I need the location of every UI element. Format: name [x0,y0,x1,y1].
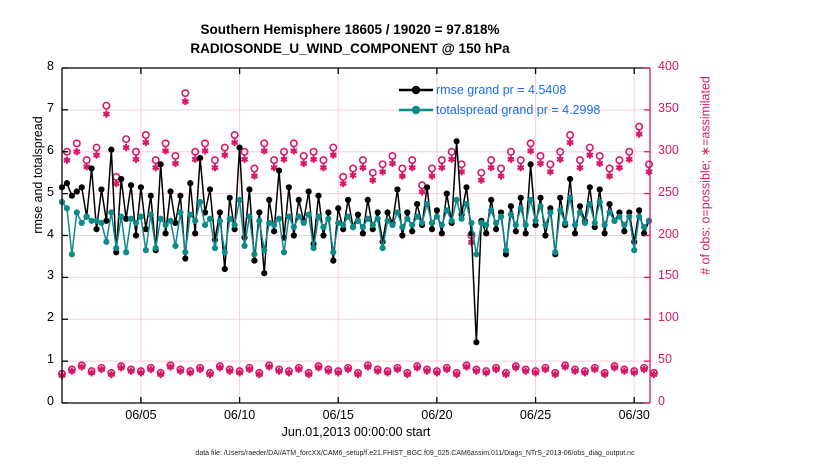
data-point [320,232,326,238]
data-point [365,197,371,203]
data-point [380,245,386,251]
data-point [192,230,198,236]
data-point [128,182,134,188]
data-point [463,184,469,190]
legend-item-rmse[interactable]: rmse grand pr = 4.5408 [398,80,600,100]
data-point [399,224,405,230]
data-point [537,195,543,201]
data-point [597,199,603,205]
data-point [212,245,218,251]
data-point [355,211,361,217]
obs-possible-marker [330,144,336,150]
data-point [177,193,183,199]
data-point [547,209,553,215]
x-tick-label: 06/30 [604,408,664,422]
data-point [523,222,529,228]
obs-possible-marker [261,140,267,146]
data-point [537,203,543,209]
data-point [389,222,395,228]
data-point [454,138,460,144]
y-tick-label-left: 1 [14,352,54,366]
data-point [118,214,124,220]
data-point [236,197,242,203]
data-point [458,216,464,222]
data-point [350,224,356,230]
obs-possible-marker [172,153,178,159]
data-point [133,232,139,238]
obs-assimilated-marker [399,172,405,179]
footer-datafile: data file: /Users/raeder/DAI/ATM_forcXX/… [0,450,830,457]
obs-assimilated-marker [439,164,445,171]
data-point [493,226,499,232]
data-point [261,270,267,276]
data-point [602,230,608,236]
obs-possible-marker [370,169,376,175]
obs-assimilated-marker [301,160,307,167]
obs-possible-marker [458,161,464,167]
data-point [182,249,188,255]
data-point [360,224,366,230]
x-tick-label: 06/10 [210,408,270,422]
obs-possible-marker [478,169,484,175]
data-point [424,201,430,207]
data-point [434,214,440,220]
data-point [246,186,252,192]
data-point [508,203,514,209]
data-point [291,232,297,238]
y-tick-label-right: 200 [658,227,708,241]
data-point [84,214,90,220]
data-point [276,216,282,222]
obs-possible-marker [271,157,277,163]
data-point [246,214,252,220]
data-point [345,197,351,203]
data-point [399,232,405,238]
obs-assimilated-marker [93,152,99,159]
obs-assimilated-marker [340,180,346,187]
data-point [251,258,257,264]
obs-assimilated-marker [232,139,238,146]
data-point [325,209,331,215]
y-axis-label-left: rmse and totalspread [31,45,45,305]
x-axis-label: Jun.01,2013 00:00:00 start [62,425,650,439]
obs-assimilated-marker [291,147,297,154]
obs-assimilated-marker [419,188,425,195]
data-point [148,193,154,199]
obs-possible-marker [251,165,257,171]
data-point [236,144,242,150]
data-point [409,228,415,234]
data-point [222,266,228,272]
data-point [128,216,134,222]
data-point [463,201,469,207]
data-point [468,220,474,226]
obs-possible-marker [212,157,218,163]
data-point [108,147,114,153]
y-tick-label-left: 2 [14,310,54,324]
data-point [197,155,203,161]
data-point [518,195,524,201]
obs-possible-marker [320,157,326,163]
data-point [320,224,326,230]
data-point [256,209,262,215]
data-point [315,193,321,199]
data-point [597,186,603,192]
data-point [449,218,455,224]
data-point [98,186,104,192]
obs-possible-marker [103,102,109,108]
data-point [167,188,173,194]
data-point [330,249,336,255]
obs-assimilated-marker [616,164,622,171]
data-point [217,209,223,215]
figure-canvas: Southern Hemisphere 18605 / 19020 = 97.8… [0,0,830,470]
data-point [143,247,149,253]
obs-possible-marker [596,153,602,159]
data-point [542,232,548,238]
data-point [592,220,598,226]
data-point [384,209,390,215]
obs-assimilated-marker [103,110,109,117]
data-point [582,220,588,226]
data-point [276,167,282,173]
data-point [158,161,164,167]
data-point [621,222,627,228]
obs-assimilated-marker [597,160,603,167]
obs-possible-marker [153,157,159,163]
obs-possible-marker [83,157,89,163]
obs-assimilated-marker [508,156,514,163]
y-tick-label-right: 250 [658,185,708,199]
data-point [315,214,321,220]
obs-assimilated-marker [380,168,386,175]
obs-possible-marker [202,140,208,146]
data-point [197,199,203,205]
data-point [360,230,366,236]
data-point [291,224,297,230]
data-point [187,180,193,186]
data-point [394,209,400,215]
obs-assimilated-marker [212,164,218,171]
obs-assimilated-marker [528,147,534,154]
data-point [577,203,583,209]
obs-assimilated-marker [182,98,188,105]
legend-item-totalspread[interactable]: totalspread grand pr = 4.2998 [398,100,600,120]
obs-assimilated-marker [577,164,583,171]
obs-possible-marker [143,132,149,138]
data-point [330,258,336,264]
data-point [528,161,534,167]
data-point [281,249,287,255]
data-point [108,209,114,215]
data-point [232,222,238,228]
legend-marker-rmse [398,83,434,97]
data-point [626,214,632,220]
data-point [523,230,529,236]
data-point [414,214,420,220]
data-point [636,207,642,213]
data-point [473,339,479,345]
x-tick-label: 06/05 [111,408,171,422]
legend-label-rmse: rmse grand pr = 4.5408 [436,80,566,100]
data-point [370,222,376,228]
data-point [64,180,70,186]
data-point [513,222,519,228]
data-point [646,218,652,224]
data-point [79,184,85,190]
obs-possible-marker [537,153,543,159]
y-tick-label-left: 3 [14,268,54,282]
data-point [444,207,450,213]
obs-possible-marker [547,161,553,167]
data-point [306,211,312,217]
obs-possible-marker [291,140,297,146]
y-tick-label-left: 6 [14,143,54,157]
data-point [222,249,228,255]
obs-possible-marker [616,157,622,163]
data-point [493,220,499,226]
data-point [296,214,302,220]
data-point [162,230,168,236]
obs-assimilated-marker [389,160,395,167]
data-point [572,230,578,236]
data-point [542,222,548,228]
data-point [404,216,410,222]
obs-assimilated-marker [222,152,228,159]
data-point [606,201,612,207]
data-point [103,239,109,245]
data-point [483,222,489,228]
data-point [167,218,173,224]
obs-assimilated-marker [498,172,504,179]
data-point [340,222,346,228]
data-point [409,222,415,228]
obs-assimilated-marker [123,144,129,151]
data-point [424,184,430,190]
data-point [513,228,519,234]
obs-assimilated-marker [370,177,376,184]
data-point [355,218,361,224]
obs-possible-marker [350,165,356,171]
legend-label-totalspread: totalspread grand pr = 4.2998 [436,100,600,120]
data-point [552,249,558,255]
data-point [429,226,435,232]
data-point [335,205,341,211]
x-tick-label: 06/25 [506,408,566,422]
obs-assimilated-marker [557,156,563,163]
data-point [498,214,504,220]
data-point [74,188,80,194]
data-point [419,220,425,226]
obs-possible-marker [379,161,385,167]
data-point [271,222,277,228]
data-point [138,184,144,190]
obs-assimilated-marker [241,156,247,163]
data-point [488,197,494,203]
y-tick-label-left: 4 [14,227,54,241]
data-point [414,201,420,207]
data-point [375,209,381,215]
data-point [153,245,159,251]
obs-assimilated-marker [449,156,455,163]
data-point [74,209,80,215]
obs-possible-marker [577,157,583,163]
obs-possible-marker [301,153,307,159]
obs-possible-marker [429,165,435,171]
obs-assimilated-marker [320,164,326,171]
data-point [567,176,573,182]
data-point [148,211,154,217]
y-tick-label-left: 0 [14,394,54,408]
y-tick-label-right: 150 [658,268,708,282]
data-point [557,195,563,201]
obs-assimilated-marker [360,164,366,171]
obs-possible-marker [93,144,99,150]
data-point [207,216,213,222]
data-point [532,218,538,224]
data-point [611,218,617,224]
data-point [429,220,435,226]
data-point [69,251,75,257]
obs-assimilated-marker [567,139,573,146]
y-tick-label-right: 50 [658,352,708,366]
obs-possible-marker [518,157,524,163]
data-point [182,255,188,261]
data-point [251,251,257,257]
obs-possible-marker [567,132,573,138]
obs-assimilated-marker [143,139,149,146]
y-tick-label-right: 400 [658,59,708,73]
data-point [118,176,124,182]
data-point [616,214,622,220]
data-point [187,211,193,217]
data-point [325,216,331,222]
obs-assimilated-marker [172,160,178,167]
legend-marker-totalspread [398,103,434,117]
data-point [202,222,208,228]
data-point [133,220,139,226]
obs-assimilated-marker [636,131,642,138]
obs-assimilated-marker [429,172,435,179]
obs-assimilated-marker [646,168,652,175]
data-point [404,209,410,215]
data-point [473,251,479,257]
data-point [217,218,223,224]
data-point [306,188,312,194]
data-point [88,165,94,171]
data-point [557,207,563,213]
y-tick-label-right: 350 [658,101,708,115]
data-point [562,220,568,226]
obs-possible-marker [498,165,504,171]
obs-possible-marker [399,165,405,171]
obs-assimilated-marker [547,168,553,175]
data-point [587,201,593,207]
data-point [508,211,514,217]
data-point [528,197,534,203]
chart-legend: rmse grand pr = 4.5408 totalspread grand… [398,80,600,120]
data-point [394,186,400,192]
data-point [567,195,573,201]
obs-assimilated-marker [202,147,208,154]
obs-assimilated-marker [587,152,593,159]
obs-assimilated-marker [488,164,494,171]
obs-assimilated-marker [251,172,257,179]
data-point [587,184,593,190]
data-point [375,216,381,222]
data-point [123,249,129,255]
data-point [286,214,292,220]
data-point [444,191,450,197]
obs-possible-marker [636,123,642,129]
obs-possible-marker [587,144,593,150]
obs-assimilated-marker [518,164,524,171]
obs-assimilated-marker [133,156,139,163]
obs-possible-marker [231,132,237,138]
data-point [296,197,302,203]
data-point [138,214,144,220]
data-point [261,247,267,253]
obs-assimilated-marker [310,156,316,163]
data-point [79,220,85,226]
data-point [641,224,647,230]
obs-assimilated-marker [537,160,543,167]
data-point [488,207,494,213]
obs-possible-marker [162,140,168,146]
data-point [256,218,262,224]
data-point [301,220,307,226]
data-point [606,209,612,215]
data-point [483,230,489,236]
obs-assimilated-marker [350,172,356,179]
y-tick-label-left: 5 [14,185,54,199]
obs-possible-marker [488,157,494,163]
obs-assimilated-marker [478,177,484,184]
data-point [310,245,316,251]
obs-assimilated-marker [330,152,336,159]
obs-possible-marker [409,157,415,163]
data-point [266,197,272,203]
data-point [572,222,578,228]
obs-assimilated-marker [113,180,119,187]
data-point [172,243,178,249]
y-tick-label-right: 300 [658,143,708,157]
y-tick-label-right: 100 [658,310,708,324]
data-point [93,226,99,232]
data-point [207,186,213,192]
data-point [227,195,233,201]
obs-assimilated-marker [281,156,287,163]
data-point [162,222,168,228]
x-tick-label: 06/20 [407,408,467,422]
data-point [227,216,233,222]
data-point [98,220,104,226]
data-point [384,218,390,224]
y-tick-label-right: 0 [658,394,708,408]
obs-possible-marker [340,174,346,180]
data-point [503,247,509,253]
data-point [64,205,70,211]
data-point [113,245,119,251]
obs-possible-marker [389,153,395,159]
obs-assimilated-marker [606,172,612,179]
obs-possible-marker [74,140,80,146]
obs-assimilated-marker [64,157,70,164]
obs-possible-marker [527,140,533,146]
obs-possible-marker [123,136,129,142]
y-axis-label-right: # of obs: o=possible; ∗=assimilated [698,46,713,306]
y-tick-label-left: 7 [14,101,54,115]
